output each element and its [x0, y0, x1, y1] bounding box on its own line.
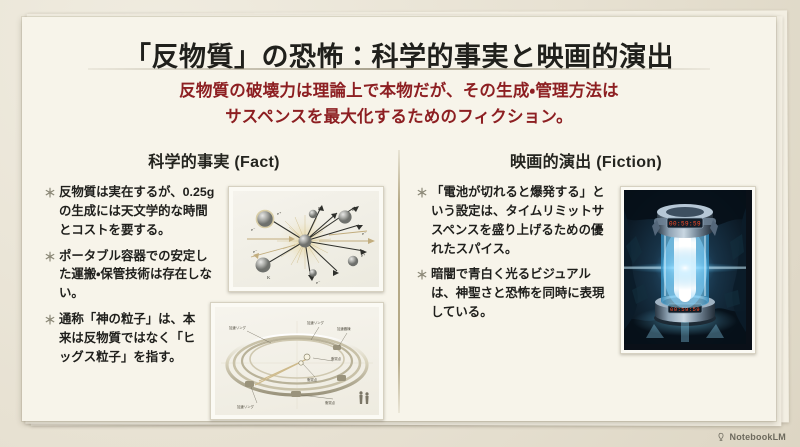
bullet-marker: ＊	[44, 184, 56, 202]
list-item-text: 暗闇で青白く光るビジュアルは、神聖さと恐怖を同時に表現している。	[431, 267, 604, 319]
column-fiction-heading: 映画的演出 (Fiction)	[402, 148, 770, 172]
column-fact-body: e⁺e⁻ e⁻e⁺ e⁻e⁺ e⁻K e⁻	[30, 183, 398, 367]
bullet-marker: ＊	[416, 266, 428, 284]
list-item: ＊ 暗闇で青白く光るビジュアルは、神聖さと恐怖を同時に表現している。	[416, 265, 756, 322]
subtitle-line-1: 反物質の破壊力は理論上で本物だが、その生成・管理方法は	[60, 79, 738, 105]
watermark-label: NotebookLM	[730, 432, 787, 442]
column-fiction: 映画的演出 (Fiction)	[402, 148, 770, 360]
list-item: ＊ 反物質は実在するが、0.25gの生成には天文学的な時間とコストを要する。	[44, 183, 384, 240]
notebooklm-logo-icon	[716, 432, 726, 442]
column-fiction-body: 00:59:59	[402, 183, 770, 322]
fact-bullet-list: ＊ 反物質は実在するが、0.25gの生成には天文学的な時間とコストを要する。 ＊…	[44, 183, 384, 367]
bullet-marker: ＊	[44, 311, 56, 329]
bullet-marker: ＊	[416, 184, 428, 202]
svg-text:衝突点: 衝突点	[325, 400, 336, 405]
list-item-text: 「電池が切れると爆発する」という設定は、タイムリミットサスペンスを盛り上げるため…	[431, 185, 604, 256]
list-item: ＊ 「電池が切れると爆発する」という設定は、タイムリミットサスペンスを盛り上げる…	[416, 183, 756, 258]
column-fact-heading: 科学的事実 (Fact)	[30, 148, 398, 172]
svg-text:加速リング: 加速リング	[237, 404, 255, 409]
slide-subtitle: 反物質の破壊力は理論上で本物だが、その生成・管理方法は サスペンスを最大化するた…	[60, 79, 738, 130]
svg-text:衝突点: 衝突点	[307, 377, 318, 382]
fiction-bullet-list: ＊ 「電池が切れると爆発する」という設定は、タイムリミットサスペンスを盛り上げる…	[416, 183, 756, 322]
list-item: ＊ 通称「神の粒子」は、本来は反物質ではなく「ヒッグス粒子」を指す。	[44, 310, 384, 367]
list-item-text: ポータブル容器での安定した運搬・保管技術は存在しない。	[59, 249, 212, 301]
list-item-text: 通称「神の粒子」は、本来は反物質ではなく「ヒッグス粒子」を指す。	[59, 312, 195, 364]
slide-card: 「反物質」の恐怖：科学的事実と映画的演出 反物質の破壊力は理論上で本物だが、その…	[22, 17, 776, 421]
notebooklm-watermark: NotebookLM	[716, 432, 787, 442]
list-item-text: 反物質は実在するが、0.25gの生成には天文学的な時間とコストを要する。	[59, 185, 214, 237]
slide-canvas: 「反物質」の恐怖：科学的事実と映画的演出 反物質の破壊力は理論上で本物だが、その…	[0, 0, 800, 447]
column-fact: 科学的事実 (Fact)	[30, 148, 398, 424]
bullet-marker: ＊	[44, 248, 56, 266]
column-divider	[398, 150, 400, 413]
subtitle-line-2: サスペンスを最大化するためのフィクション。	[60, 105, 738, 131]
list-item: ＊ ポータブル容器での安定した運搬・保管技術は存在しない。	[44, 247, 384, 304]
title-divider	[88, 68, 710, 70]
